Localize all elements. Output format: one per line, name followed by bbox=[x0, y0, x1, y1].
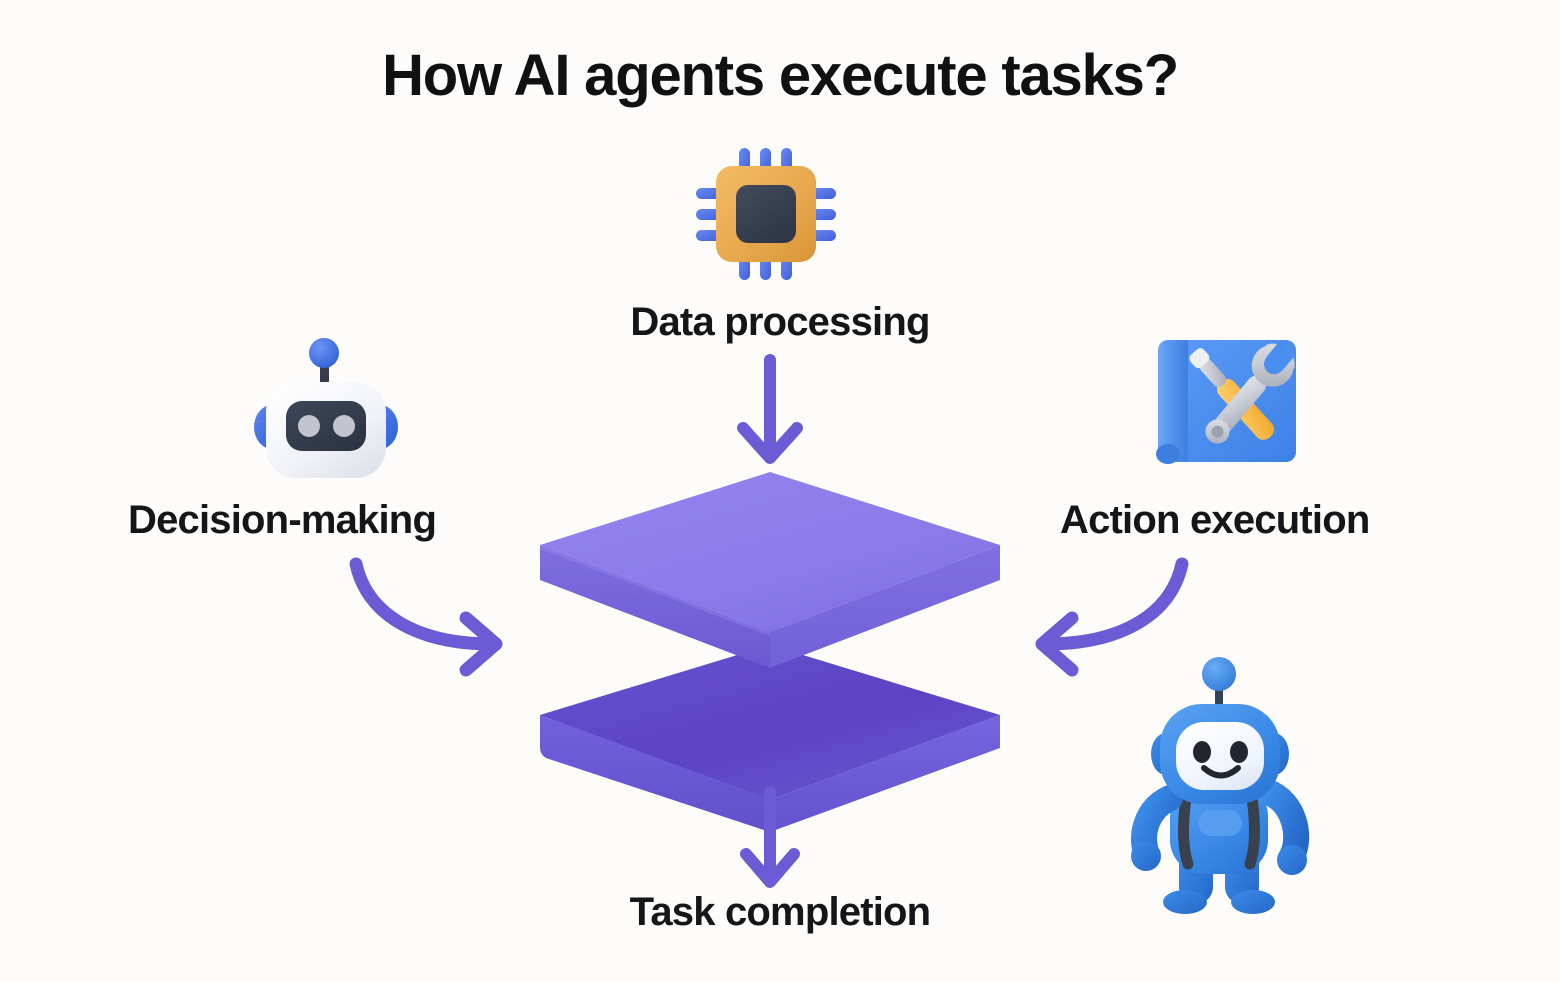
cpu-chip-icon bbox=[692, 144, 840, 284]
robot-head-icon bbox=[246, 335, 406, 485]
label-action-execution: Action execution bbox=[1060, 498, 1369, 542]
robot-mascot-icon bbox=[1122, 650, 1322, 915]
label-task-completion: Task completion bbox=[0, 890, 1560, 934]
arrow-data-processing-to-stack bbox=[716, 352, 824, 474]
page-title: How AI agents execute tasks? bbox=[0, 44, 1560, 109]
label-decision-making: Decision-making bbox=[128, 498, 436, 542]
arrow-stack-to-task-completion bbox=[716, 786, 824, 896]
label-data-processing: Data processing bbox=[0, 300, 1560, 344]
blueprint-tools-icon bbox=[1150, 330, 1305, 480]
diagram-canvas: How AI agents execute tasks? bbox=[0, 0, 1560, 982]
stack-layer-top bbox=[540, 472, 1000, 668]
arrow-decision-making-to-stack bbox=[330, 548, 530, 678]
